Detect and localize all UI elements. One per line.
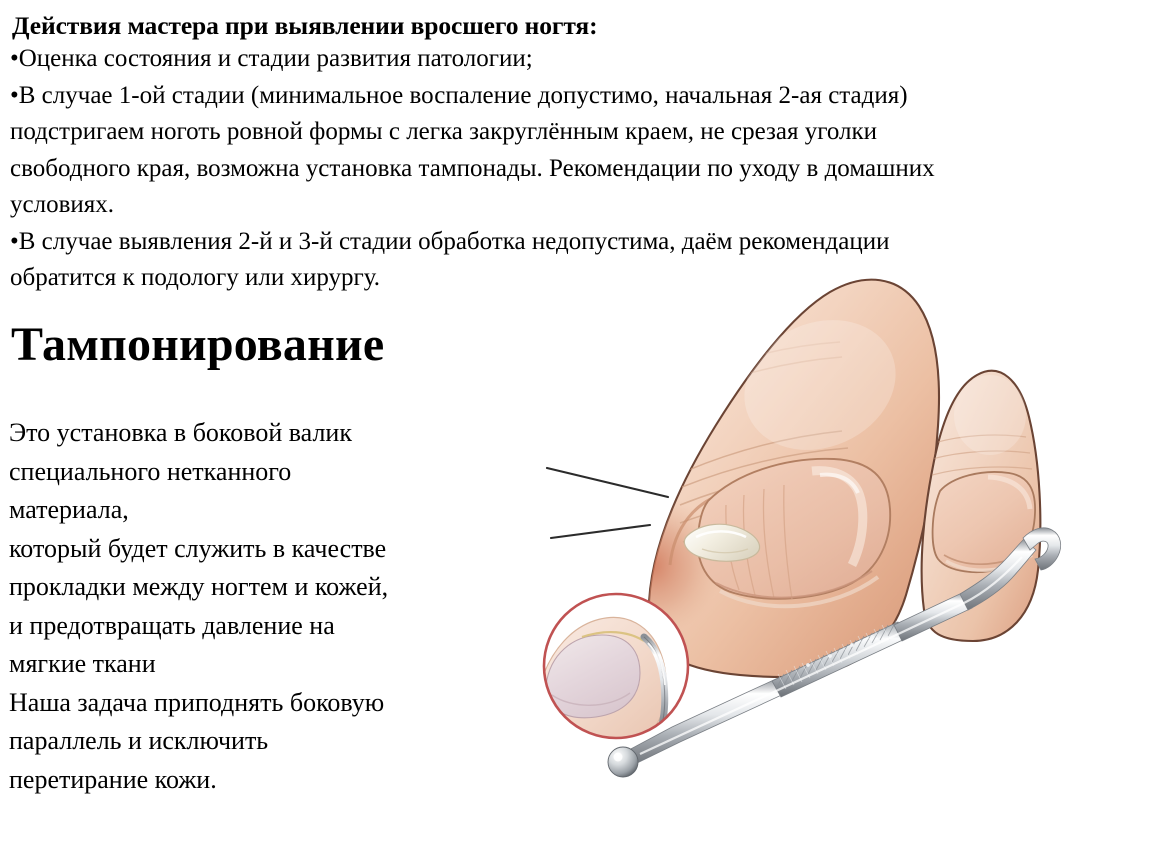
description-line: параллель и исключить	[9, 722, 514, 761]
description-line: Это установка в боковой валик	[9, 414, 514, 453]
leader-line-upper	[547, 468, 668, 497]
intro-line-1: •Оценка состояния и стадии развития пато…	[10, 45, 533, 72]
illustration-svg	[520, 265, 1150, 864]
page-title: Действия мастера при выявлении вросшего …	[12, 10, 1112, 41]
intro-line-2: •В случае 1-ой стадии (минимальное воспа…	[10, 82, 908, 109]
leader-line-lower	[551, 525, 650, 538]
list-item-continuation: свободного края, возможна установка тамп…	[10, 151, 1120, 188]
description-line: Наша задача приподнять боковую	[9, 684, 514, 723]
intro-line-5: условиях.	[10, 191, 114, 218]
ingrown-nail-illustration	[520, 265, 1150, 864]
description-line: материала,	[9, 491, 514, 530]
instrument-ball-end	[608, 747, 638, 777]
intro-bullet-list: •Оценка состояния и стадии развития пато…	[10, 41, 1120, 297]
description-line: который будет служить в качестве	[9, 530, 514, 569]
description-line: и предотвращать давление на	[9, 607, 514, 646]
description-line: перетирание кожи.	[9, 761, 514, 800]
description-line: мягкие ткани	[9, 645, 514, 684]
section-title: Тампонирование	[11, 318, 384, 372]
intro-line-4: свободного края, возможна установка тамп…	[10, 155, 935, 182]
intro-line-6: •В случае выявления 2-й и 3-й стадии обр…	[10, 228, 889, 255]
list-item: •Оценка состояния и стадии развития пато…	[10, 41, 1120, 78]
intro-line-7: обратится к подологу или хирургу.	[10, 264, 380, 291]
list-item: •В случае выявления 2-й и 3-й стадии обр…	[10, 224, 1120, 261]
list-item-continuation: условиях.	[10, 187, 1120, 224]
list-item-continuation: подстригаем ноготь ровной формы с легка …	[10, 114, 1120, 151]
description-line: специального нетканного	[9, 453, 514, 492]
description-block: Это установка в боковой валик специально…	[9, 414, 514, 799]
list-item: •В случае 1-ой стадии (минимальное воспа…	[10, 78, 1120, 115]
description-line: прокладки между ногтем и кожей,	[9, 568, 514, 607]
intro-line-3: подстригаем ноготь ровной формы с легка …	[10, 118, 877, 145]
